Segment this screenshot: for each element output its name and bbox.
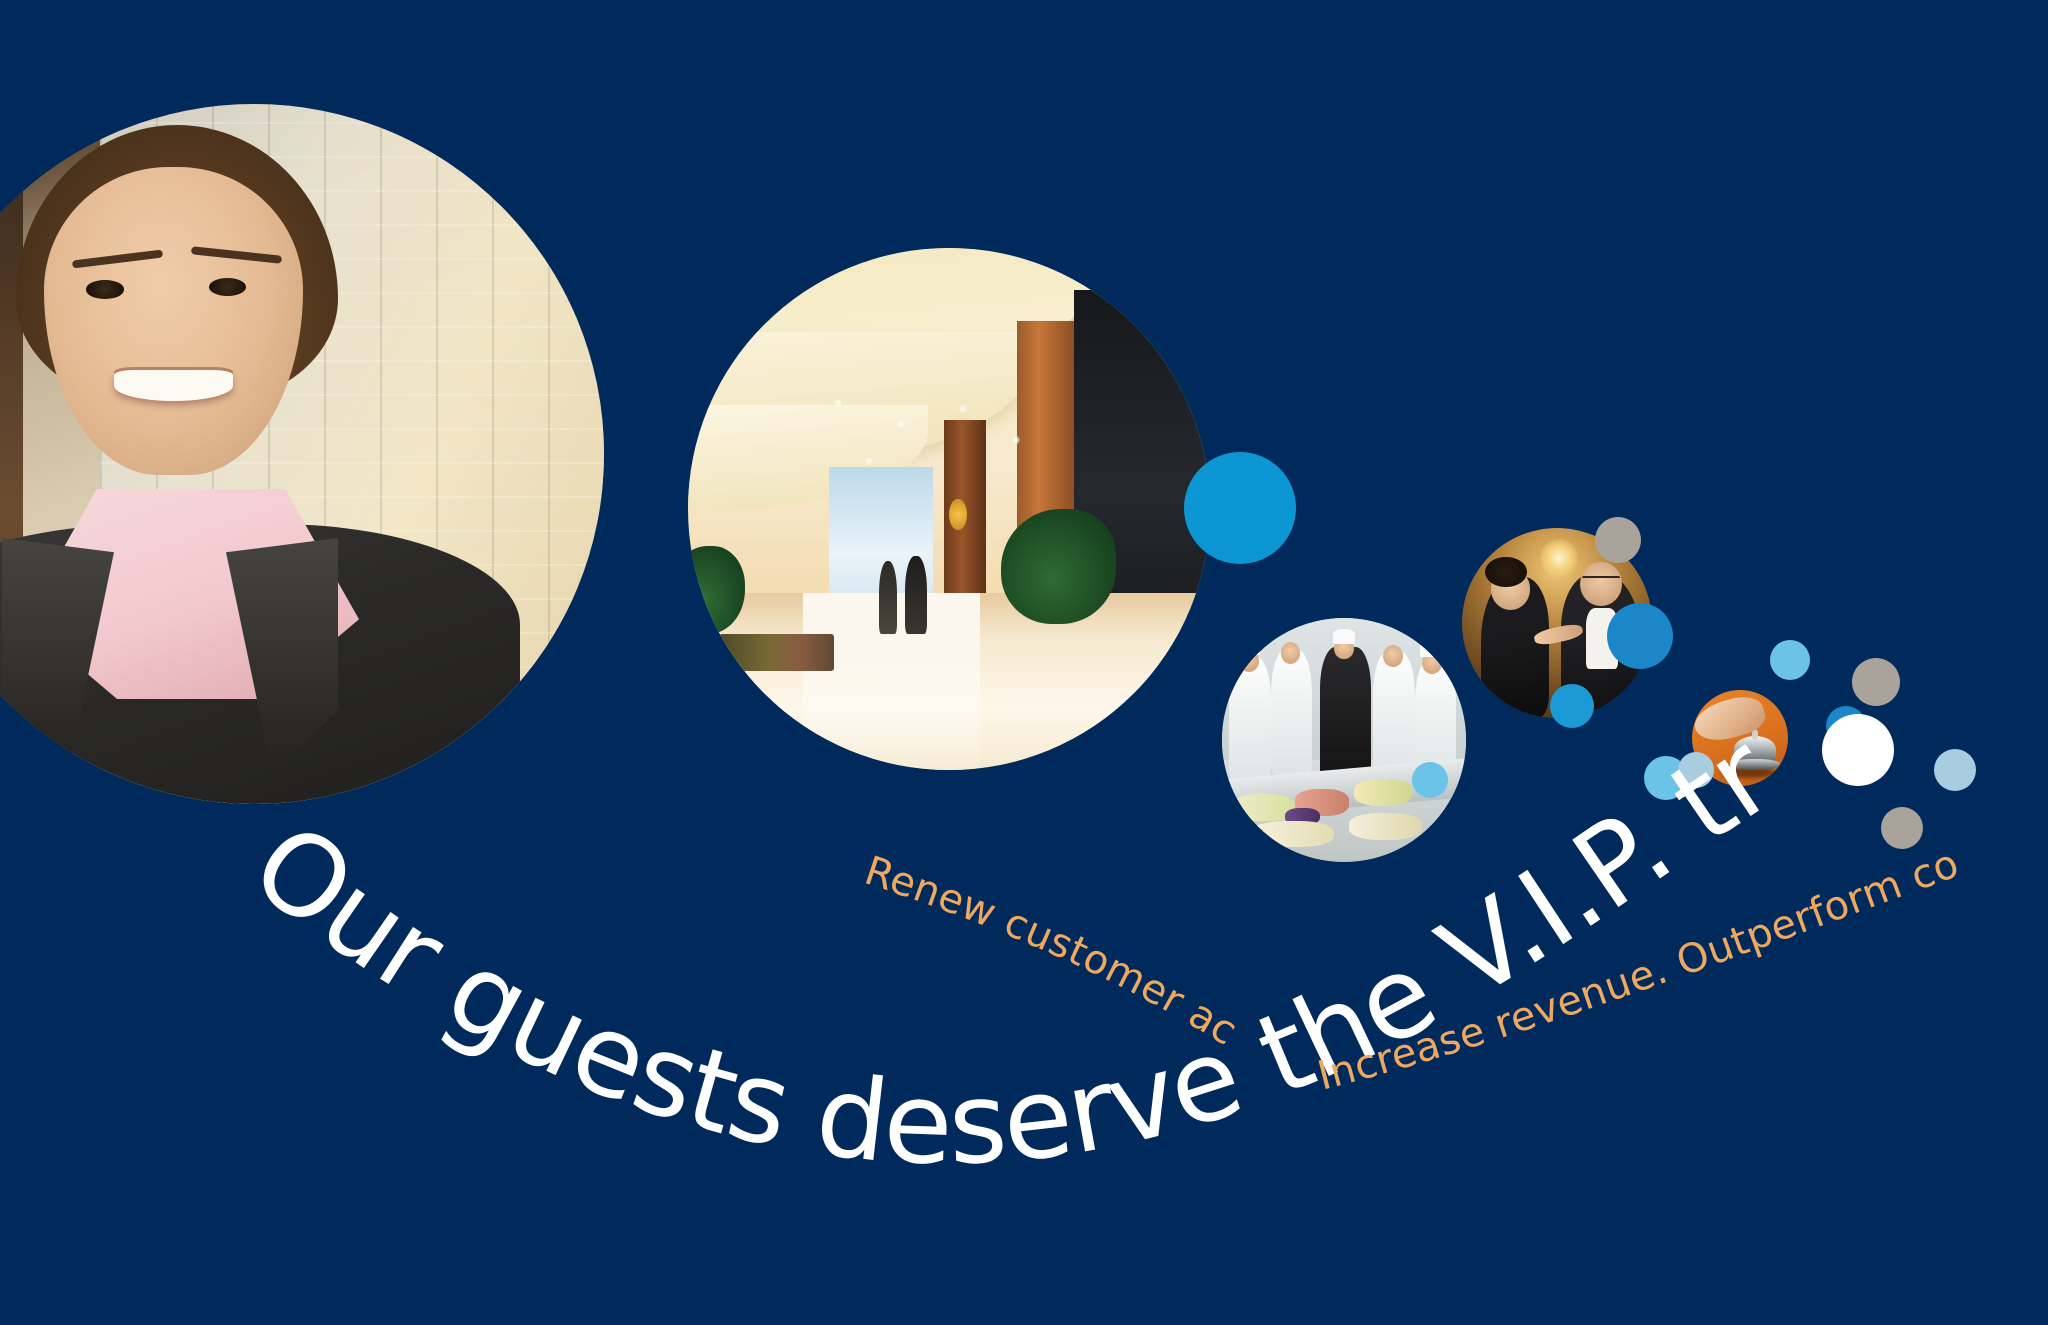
tagline-renew: Renew customer activity.	[0, 0, 1245, 1055]
curved-typography-layer: Our guests deserve the V.I.P. treatment …	[0, 0, 2048, 1325]
marketing-banner: Our guests deserve the V.I.P. treatment …	[0, 0, 2048, 1325]
tagline-renew-textpath: Renew customer activity.	[0, 0, 1245, 1055]
